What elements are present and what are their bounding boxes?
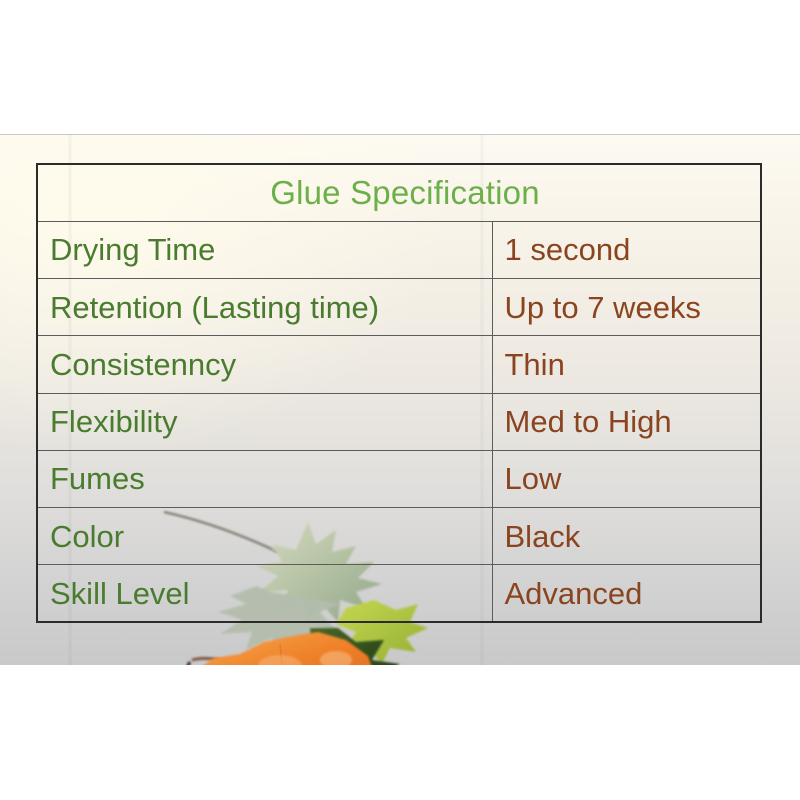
table-row: Flexibility Med to High [37, 393, 761, 450]
table-title-cell: Glue Specification [37, 164, 761, 221]
table-header-row: Glue Specification [37, 164, 761, 221]
spec-value: 1 second [505, 232, 631, 267]
page-title: Glue Specification [270, 174, 540, 211]
spec-value-cell: Advanced [492, 565, 761, 622]
spec-value-cell: Up to 7 weeks [492, 279, 761, 336]
spec-value-cell: Thin [492, 336, 761, 393]
spec-label: Drying Time [50, 232, 215, 267]
spec-label: Color [50, 519, 124, 554]
table-row: Skill Level Advanced [37, 565, 761, 622]
spec-label-cell: Retention (Lasting time) [37, 279, 492, 336]
spec-label-cell: Flexibility [37, 393, 492, 450]
spec-value: Med to High [505, 404, 672, 439]
glue-specification-table: Glue Specification Drying Time 1 second … [36, 163, 762, 623]
spec-label-cell: Consistenncy [37, 336, 492, 393]
table-row: Drying Time 1 second [37, 221, 761, 278]
table-row: Retention (Lasting time) Up to 7 weeks [37, 279, 761, 336]
table-row: Fumes Low [37, 450, 761, 507]
spec-value: Black [505, 519, 581, 554]
spec-label-cell: Drying Time [37, 221, 492, 278]
spec-value-cell: 1 second [492, 221, 761, 278]
spec-value-cell: Black [492, 508, 761, 565]
spec-value: Advanced [505, 576, 643, 611]
spec-label-cell: Color [37, 508, 492, 565]
spec-label: Flexibility [50, 404, 177, 439]
spec-value: Thin [505, 347, 565, 382]
spec-value-cell: Low [492, 450, 761, 507]
spec-value-cell: Med to High [492, 393, 761, 450]
spec-label: Retention (Lasting time) [50, 290, 379, 325]
spec-value: Up to 7 weeks [505, 290, 701, 325]
spec-label: Skill Level [50, 576, 190, 611]
spec-label: Fumes [50, 461, 145, 496]
table-row: Color Black [37, 508, 761, 565]
table-row: Consistenncy Thin [37, 336, 761, 393]
table-body: Glue Specification Drying Time 1 second … [37, 164, 761, 622]
spec-label-cell: Fumes [37, 450, 492, 507]
spec-label: Consistenncy [50, 347, 236, 382]
spec-value: Low [505, 461, 562, 496]
screenshot-canvas: Glue Specification Drying Time 1 second … [0, 0, 800, 800]
spec-label-cell: Skill Level [37, 565, 492, 622]
